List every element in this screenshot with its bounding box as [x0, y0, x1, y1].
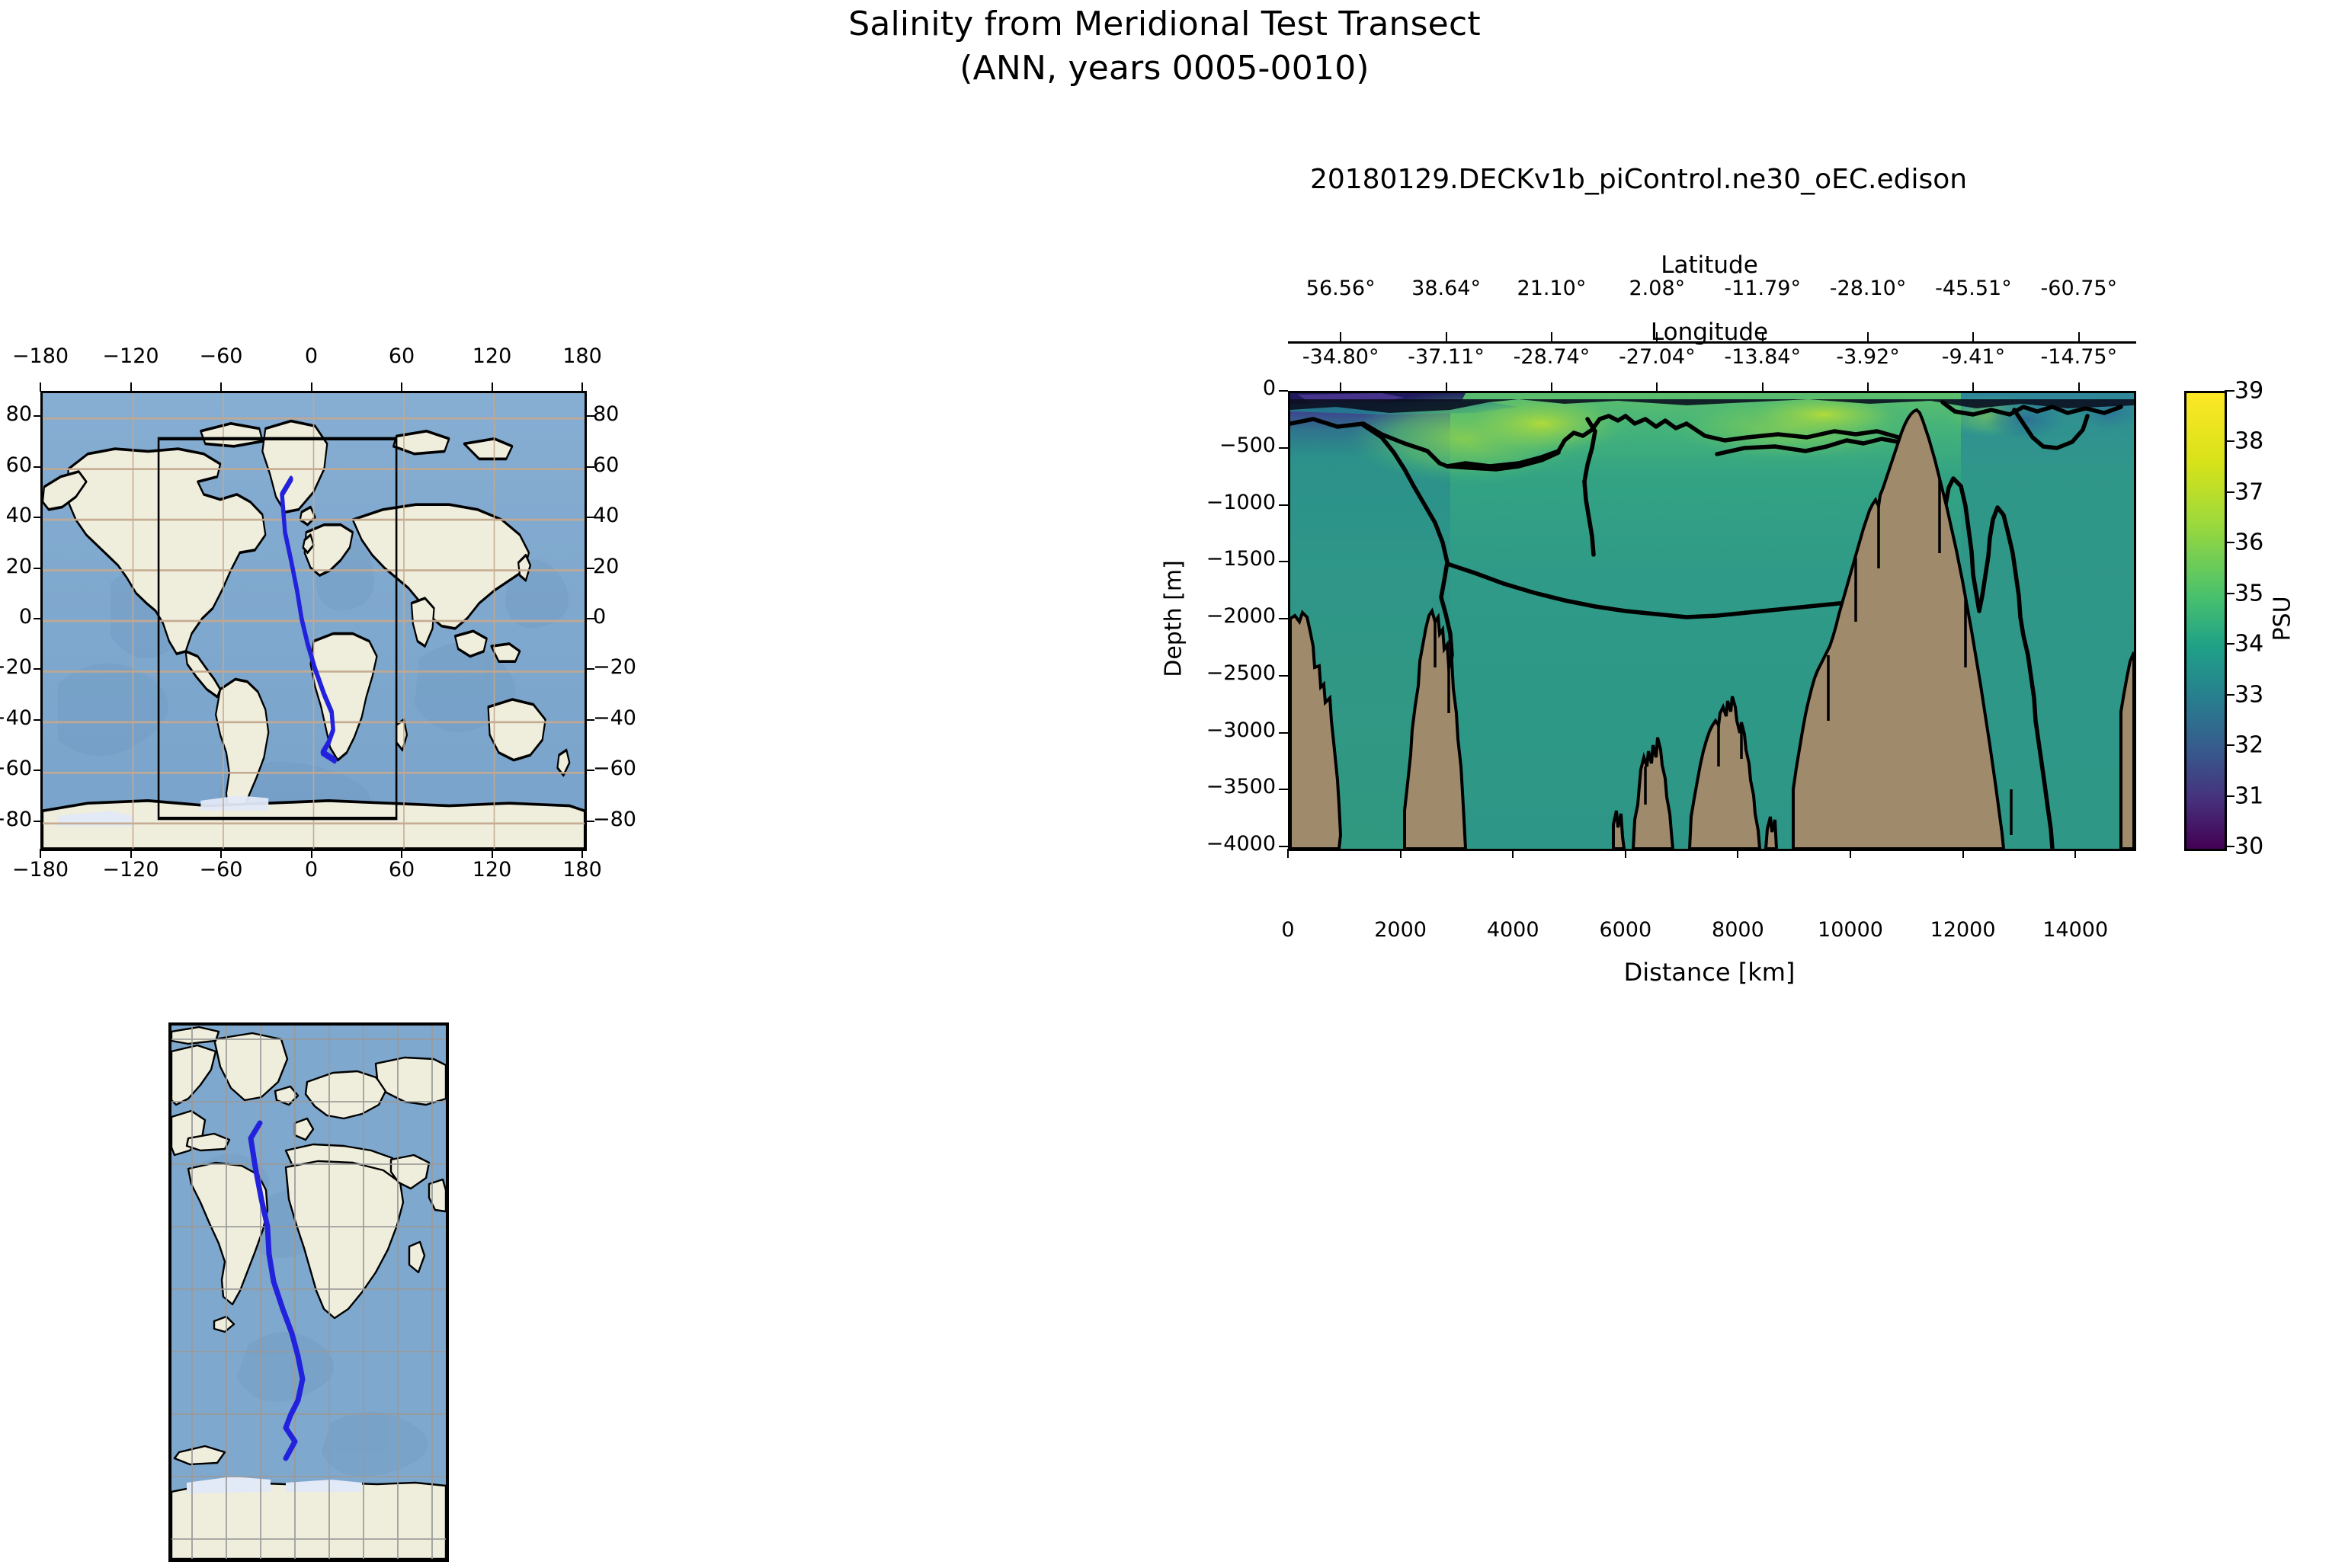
depth-tick-4: −2000 — [1206, 604, 1276, 628]
map-lon-tickmark-top-3 — [311, 382, 312, 392]
map-lat-tick-right-4: 0 — [593, 605, 606, 629]
map-lon-tickmark-top-5 — [492, 382, 493, 392]
map-lat-tickmark-right-4 — [585, 618, 594, 619]
xsec-lon-tickmark-5 — [1867, 382, 1869, 392]
colorbar-tick-36: 36 — [2234, 530, 2263, 556]
map-lon-tick-top-6: 180 — [562, 344, 602, 368]
map-lat-tickmark-left-7 — [34, 770, 43, 771]
xsec-lat-tick-2: 21.10° — [1517, 277, 1587, 300]
depth-tick-7: −3500 — [1206, 775, 1276, 798]
depth-tickmark-4 — [1279, 618, 1288, 619]
colorbar-tickmark-30 — [2225, 846, 2234, 847]
cross-section-svg — [1290, 393, 2134, 849]
xsec-lat-tickmark-0 — [1340, 332, 1341, 341]
map-lon-tickmark-top-0 — [40, 382, 41, 392]
map-lat-tickmark-left-4 — [34, 618, 43, 619]
map-lon-tickmark-bottom-2 — [220, 849, 222, 858]
map-lon-tickmark-bottom-6 — [581, 849, 583, 858]
depth-tickmark-8 — [1279, 846, 1288, 847]
xsec-lat-tick-3: 2.08° — [1629, 277, 1686, 300]
map-lat-tick-right-2: 40 — [593, 504, 619, 527]
map-lat-tickmark-left-0 — [34, 415, 43, 417]
map-lon-tick-bottom-4: 60 — [389, 858, 415, 882]
map-lon-tickmark-bottom-3 — [311, 849, 312, 858]
map-lon-tick-bottom-6: 180 — [562, 858, 602, 882]
distance-tickmark-8000 — [1737, 849, 1738, 858]
depth-tick-3: −1500 — [1206, 547, 1276, 571]
map-lon-tick-bottom-5: 120 — [473, 858, 512, 882]
depth-tick-2: −1000 — [1206, 491, 1276, 514]
distance-tickmark-2000 — [1400, 849, 1402, 858]
map-lat-tickmark-right-2 — [585, 517, 594, 518]
colorbar-tickmark-34 — [2225, 643, 2234, 645]
depth-tick-1: −500 — [1219, 434, 1276, 457]
distance-tick-8000: 8000 — [1712, 918, 1764, 942]
map-lat-tick-right-8: −80 — [593, 808, 636, 831]
depth-tick-8: −4000 — [1206, 832, 1276, 856]
depth-tickmark-6 — [1279, 732, 1288, 734]
colorbar-tick-37: 37 — [2234, 478, 2263, 505]
map-lat-tickmark-left-6 — [34, 719, 43, 721]
map-lon-tick-top-4: 60 — [389, 344, 415, 368]
inset-map-svg — [171, 1026, 446, 1559]
distance-tick-2000: 2000 — [1374, 918, 1427, 942]
colorbar-tickmark-31 — [2225, 795, 2234, 797]
inset-ocean-fill — [171, 1026, 446, 1559]
map-lat-tickmark-left-1 — [34, 466, 43, 468]
depth-tickmark-7 — [1279, 789, 1288, 790]
map-lon-tick-top-2: −60 — [200, 344, 243, 368]
map-lat-tickmark-right-0 — [585, 415, 594, 417]
map-lat-tick-left-0: 80 — [6, 402, 32, 426]
distance-tickmark-14000 — [2074, 849, 2076, 858]
distance-axis-label: Distance [km] — [1624, 958, 1796, 987]
map-lat-tick-left-4: 0 — [19, 605, 32, 629]
map-lat-tickmark-left-8 — [34, 821, 43, 822]
map-lon-tickmark-top-2 — [220, 382, 222, 392]
depth-tickmark-2 — [1279, 504, 1288, 506]
map-lat-tick-right-1: 60 — [593, 453, 619, 477]
map-lat-tick-left-8: −80 — [0, 808, 32, 831]
xsec-lon-tick-0: -34.80° — [1302, 345, 1379, 369]
xsec-lat-tick-6: -45.51° — [1935, 277, 2012, 300]
map-lon-tick-bottom-0: −180 — [12, 858, 69, 882]
depth-tick-5: −2500 — [1206, 661, 1276, 685]
xsec-lon-tick-5: -3.92° — [1836, 345, 1899, 369]
map-lat-tickmark-left-2 — [34, 517, 43, 518]
colorbar-tickmark-36 — [2225, 542, 2234, 543]
depth-axis-label: Depth [m] — [1161, 560, 1187, 677]
map-lon-tickmark-bottom-5 — [492, 849, 493, 858]
map-lon-tickmark-bottom-4 — [401, 849, 402, 858]
xsec-lat-tick-0: 56.56° — [1306, 277, 1376, 300]
colorbar-tickmark-32 — [2225, 744, 2234, 746]
distance-tick-6000: 6000 — [1599, 918, 1651, 942]
depth-tickmark-0 — [1279, 390, 1288, 392]
page-title: Salinity from Meridional Test Transect — [0, 5, 2329, 43]
depth-tick-6: −3000 — [1206, 718, 1276, 742]
map-lat-tick-left-6: −40 — [0, 706, 32, 730]
map-lat-tick-left-5: −20 — [0, 655, 32, 679]
xsec-lon-tick-7: -14.75° — [2041, 345, 2118, 369]
colorbar — [2184, 391, 2227, 851]
map-lon-tickmark-bottom-1 — [130, 849, 132, 858]
xsec-lat-tickmark-2 — [1551, 332, 1552, 341]
map-lon-tick-top-5: 120 — [473, 344, 512, 368]
colorbar-tickmark-33 — [2225, 694, 2234, 696]
map-lat-tick-left-7: −60 — [0, 757, 32, 780]
xsec-lat-tickmark-3 — [1656, 332, 1658, 341]
xsec-lon-tickmark-1 — [1446, 382, 1447, 392]
map-lat-tick-right-6: −40 — [593, 706, 636, 730]
distance-tickmark-0 — [1287, 849, 1289, 858]
map-lat-tickmark-right-5 — [585, 668, 594, 670]
page-subtitle: (ANN, years 0005-0010) — [0, 49, 2329, 88]
xsec-lon-tick-1: -37.11° — [1408, 345, 1485, 369]
map-lon-tick-top-3: 0 — [305, 344, 318, 368]
latitude-axis-rule — [1288, 341, 2136, 344]
xsec-lat-tickmark-5 — [1867, 332, 1869, 341]
map-lat-tick-right-3: 20 — [593, 555, 619, 578]
distance-tickmark-6000 — [1625, 849, 1626, 858]
xsec-lat-tick-5: -28.10° — [1830, 277, 1907, 300]
distance-tickmark-12000 — [1962, 849, 1964, 858]
colorbar-tick-30: 30 — [2234, 834, 2263, 860]
colorbar-tick-35: 35 — [2234, 580, 2263, 606]
distance-tick-14000: 14000 — [2042, 918, 2108, 942]
xsec-lat-tick-1: 38.64° — [1411, 277, 1481, 300]
map-lon-tick-top-0: −180 — [12, 344, 69, 368]
distance-tick-10000: 10000 — [1818, 918, 1883, 942]
world-map-svg — [43, 393, 585, 849]
world-map-panel — [40, 391, 587, 851]
distance-tickmark-10000 — [1850, 849, 1851, 858]
map-lon-tick-bottom-1: −120 — [102, 858, 159, 882]
distance-tick-12000: 12000 — [1930, 918, 1996, 942]
latitude-axis-label: Latitude — [1661, 251, 1758, 279]
map-lon-tick-top-1: −120 — [102, 344, 159, 368]
xsec-lat-tick-7: -60.75° — [2041, 277, 2118, 300]
depth-tickmark-1 — [1279, 447, 1288, 449]
colorbar-tickmark-35 — [2225, 593, 2234, 594]
map-lat-tickmark-left-5 — [34, 668, 43, 670]
depth-tickmark-5 — [1279, 675, 1288, 677]
xsec-lat-tickmark-1 — [1446, 332, 1447, 341]
inset-map-panel — [168, 1022, 449, 1562]
xsec-lat-tickmark-7 — [2078, 332, 2080, 341]
colorbar-tickmark-39 — [2225, 390, 2234, 392]
colorbar-tickmark-38 — [2225, 440, 2234, 442]
xsec-lon-tick-6: -9.41° — [1942, 345, 2005, 369]
run-name-label: 20180129.DECKv1b_piControl.ne30_oEC.edis… — [1143, 164, 2134, 195]
colorbar-tick-38: 38 — [2234, 428, 2263, 455]
xsec-lon-tick-3: -27.04° — [1619, 345, 1696, 369]
map-lat-tick-right-5: −20 — [593, 655, 636, 679]
xsec-lon-tick-2: -28.74° — [1514, 345, 1591, 369]
depth-tickmark-3 — [1279, 561, 1288, 562]
map-lon-tickmark-top-6 — [581, 382, 583, 392]
map-lat-tick-left-2: 40 — [6, 504, 32, 527]
map-lat-tickmark-right-1 — [585, 466, 594, 468]
xsec-lon-tickmark-4 — [1762, 382, 1764, 392]
map-lat-tick-right-0: 80 — [593, 402, 619, 426]
depth-tick-0: 0 — [1263, 376, 1276, 400]
map-lat-tick-left-1: 60 — [6, 453, 32, 477]
xsec-lon-tickmark-0 — [1340, 382, 1341, 392]
distance-tick-0: 0 — [1281, 918, 1294, 942]
colorbar-label: PSU — [2270, 596, 2296, 641]
xsec-lat-tickmark-6 — [1972, 332, 1974, 341]
distance-tick-4000: 4000 — [1487, 918, 1539, 942]
xsec-lat-tick-4: -11.79° — [1724, 277, 1801, 300]
colorbar-tick-31: 31 — [2234, 782, 2263, 809]
colorbar-tick-39: 39 — [2234, 378, 2263, 405]
colorbar-tickmark-37 — [2225, 491, 2234, 493]
xsec-lon-tickmark-6 — [1972, 382, 1974, 392]
xsec-lon-tick-4: -13.84° — [1724, 345, 1801, 369]
map-lon-tick-bottom-2: −60 — [200, 858, 243, 882]
xsec-lat-tickmark-4 — [1762, 332, 1764, 341]
map-lat-tickmark-left-3 — [34, 568, 43, 569]
map-lon-tickmark-bottom-0 — [40, 849, 41, 858]
map-lon-tickmark-top-1 — [130, 382, 132, 392]
map-lon-tick-bottom-3: 0 — [305, 858, 318, 882]
map-lat-tick-left-3: 20 — [6, 555, 32, 578]
colorbar-tick-34: 34 — [2234, 631, 2263, 658]
distance-tickmark-4000 — [1512, 849, 1514, 858]
colorbar-tick-33: 33 — [2234, 681, 2263, 708]
map-lat-tickmark-right-7 — [585, 770, 594, 771]
map-lat-tickmark-right-8 — [585, 821, 594, 822]
xsec-lon-tickmark-2 — [1551, 382, 1552, 392]
xsec-lon-tickmark-3 — [1656, 382, 1658, 392]
map-lat-tickmark-right-6 — [585, 719, 594, 721]
map-lat-tick-right-7: −60 — [593, 757, 636, 780]
map-lat-tickmark-right-3 — [585, 568, 594, 569]
cross-section-panel — [1288, 391, 2136, 851]
colorbar-tick-32: 32 — [2234, 732, 2263, 759]
map-lon-tickmark-top-4 — [401, 382, 402, 392]
xsec-lon-tickmark-7 — [2078, 382, 2080, 392]
